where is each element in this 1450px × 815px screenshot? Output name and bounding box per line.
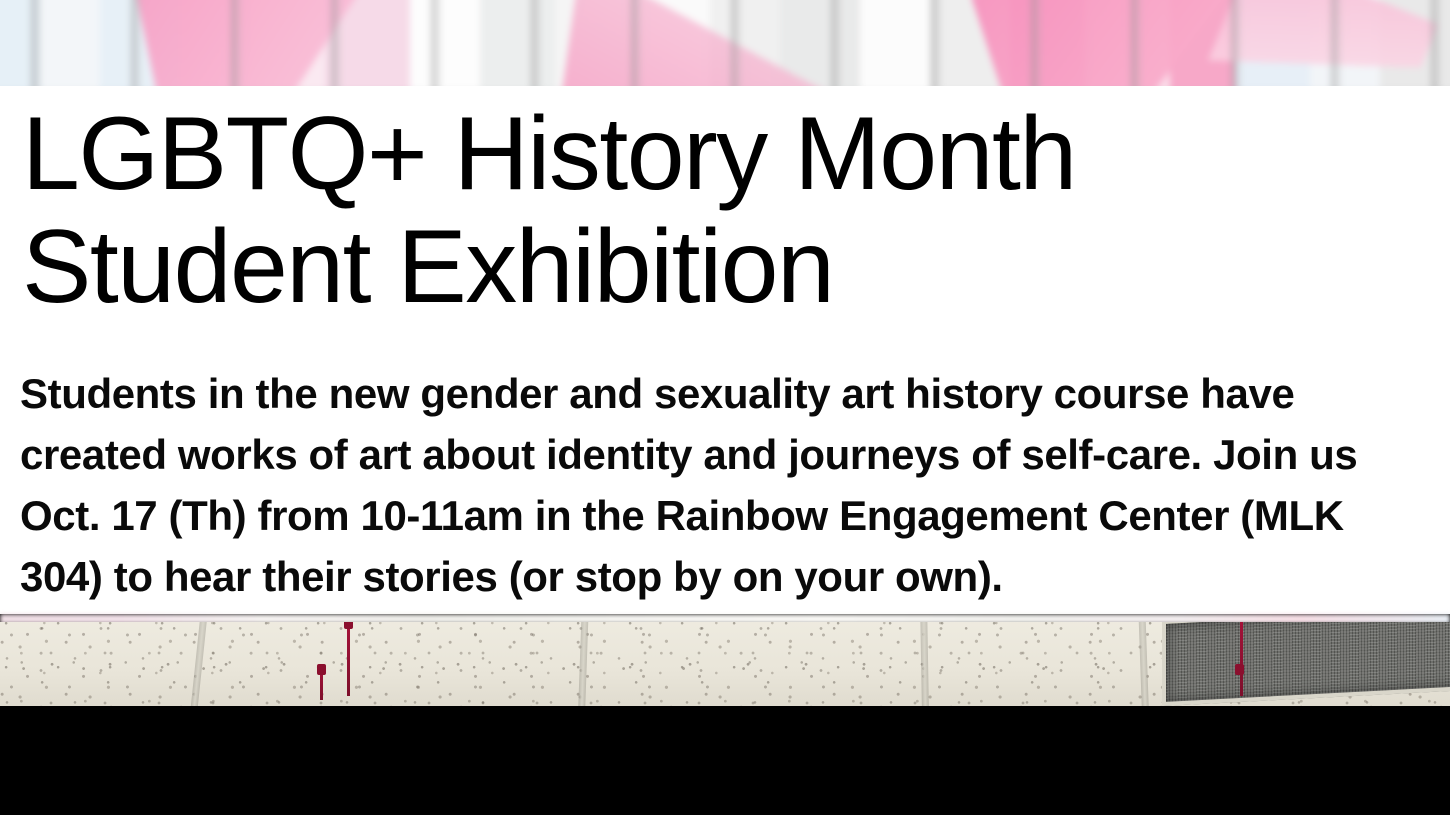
hanging-string-clip bbox=[317, 664, 326, 675]
presentation-slide: LGBTQ+ History Month Student Exhibition … bbox=[0, 0, 1450, 815]
event-description: Students in the new gender and sexuality… bbox=[20, 363, 1430, 607]
ceiling-rail bbox=[188, 622, 209, 706]
hanging-string bbox=[1240, 622, 1243, 696]
top-photo-blur-layer bbox=[0, 0, 1450, 86]
content-panel: LGBTQ+ History Month Student Exhibition … bbox=[0, 86, 1450, 614]
page-title: LGBTQ+ History Month Student Exhibition bbox=[22, 98, 1422, 324]
hanging-string-clip bbox=[344, 622, 353, 629]
bottom-photo-band bbox=[0, 622, 1450, 706]
hanging-string bbox=[347, 622, 350, 696]
bottom-letterbox bbox=[0, 706, 1450, 815]
hanging-string-clip bbox=[1235, 664, 1244, 675]
ceiling-rail bbox=[577, 622, 589, 706]
ceiling-rail bbox=[920, 622, 929, 706]
ceiling-tiles bbox=[0, 622, 1450, 706]
top-photo-frame-edges bbox=[0, 0, 1450, 86]
ceiling-rail bbox=[1138, 622, 1150, 706]
top-photo-band bbox=[0, 0, 1450, 86]
